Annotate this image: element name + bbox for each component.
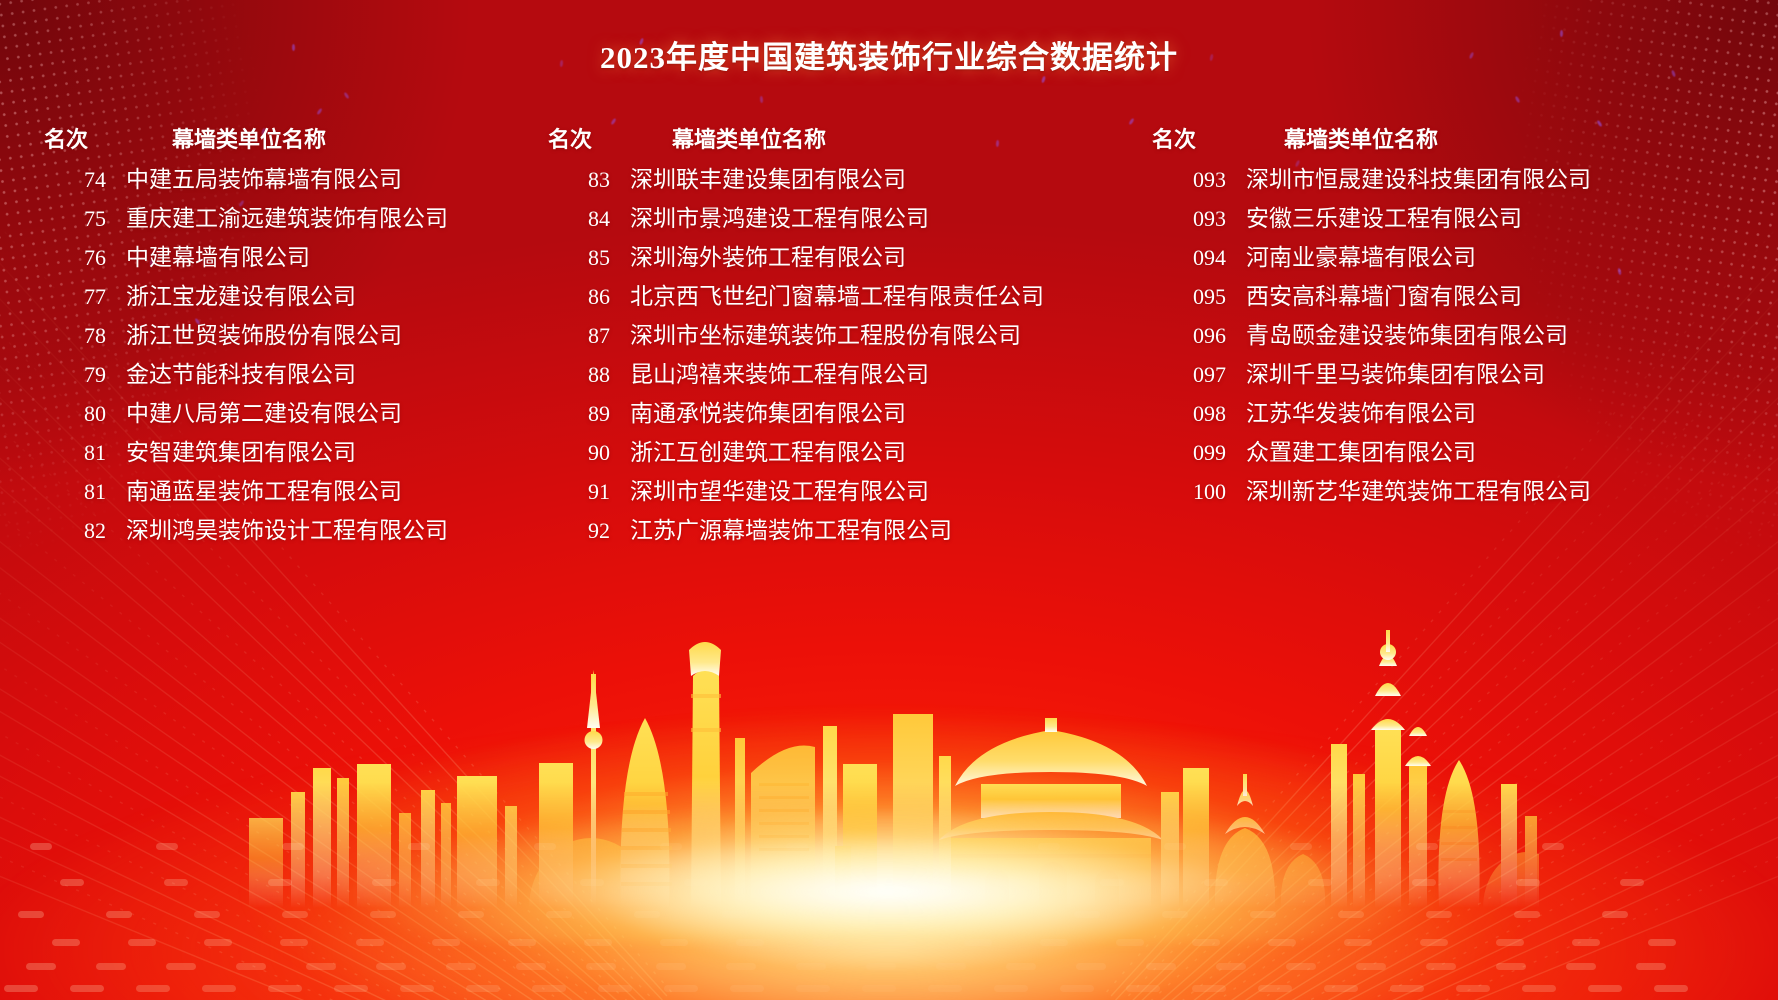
company-name: 青岛颐金建设装饰集团有限公司	[1226, 316, 1568, 350]
rank-value: 097	[1152, 362, 1226, 388]
company-name: 江苏广源幕墙装饰工程有限公司	[610, 511, 952, 545]
table-row: 093深圳市恒晟建设科技集团有限公司	[1152, 160, 1778, 199]
rank-column-2: 名次 幕墙类单位名称 83深圳联丰建设集团有限公司84深圳市景鸿建设工程有限公司…	[530, 122, 1140, 550]
company-name: 西安高科幕墙门窗有限公司	[1226, 277, 1522, 311]
company-name: 南通承悦装饰集团有限公司	[610, 394, 906, 428]
company-name: 深圳新艺华建筑装饰工程有限公司	[1226, 472, 1591, 506]
rank-column-1: 名次 幕墙类单位名称 74中建五局装饰幕墙有限公司75重庆建工渝远建筑装饰有限公…	[0, 122, 530, 550]
company-name: 重庆建工渝远建筑装饰有限公司	[106, 199, 448, 233]
skyline-base-wash	[139, 712, 1639, 942]
company-name: 安徽三乐建设工程有限公司	[1226, 199, 1522, 233]
rank-value: 89	[548, 401, 610, 427]
rank-value: 85	[548, 245, 610, 271]
rank-value: 90	[548, 440, 610, 466]
rank-value: 096	[1152, 323, 1226, 349]
header-name-3: 幕墙类单位名称	[1226, 122, 1438, 154]
table-row: 097深圳千里马装饰集团有限公司	[1152, 355, 1778, 394]
table-row: 76中建幕墙有限公司	[44, 238, 530, 277]
rank-rows-2: 83深圳联丰建设集团有限公司84深圳市景鸿建设工程有限公司85深圳海外装饰工程有…	[548, 160, 1140, 550]
company-name: 浙江互创建筑工程有限公司	[610, 433, 906, 467]
rank-value: 91	[548, 479, 610, 505]
rank-value: 80	[44, 401, 106, 427]
rank-rows-3: 093深圳市恒晟建设科技集团有限公司093安徽三乐建设工程有限公司094河南业豪…	[1152, 160, 1778, 511]
table-row: 84深圳市景鸿建设工程有限公司	[548, 199, 1140, 238]
column-header-1: 名次 幕墙类单位名称	[44, 122, 530, 154]
company-name: 北京西飞世纪门窗幕墙工程有限责任公司	[610, 277, 1044, 311]
rank-value: 79	[44, 362, 106, 388]
company-name: 江苏华发装饰有限公司	[1226, 394, 1476, 428]
header-rank-1: 名次	[44, 122, 104, 154]
ground-glow-core	[0, 540, 1778, 1000]
rank-value: 78	[44, 323, 106, 349]
table-row: 094河南业豪幕墙有限公司	[1152, 238, 1778, 277]
company-name: 浙江世贸装饰股份有限公司	[106, 316, 402, 350]
page-title: 2023年度中国建筑装饰行业综合数据统计	[0, 32, 1778, 77]
header-rank-3: 名次	[1152, 122, 1226, 154]
company-name: 金达节能科技有限公司	[106, 355, 356, 389]
beijing-skyline-icon	[239, 578, 1539, 908]
runway-dash-marks	[0, 810, 1778, 1000]
rank-columns: 名次 幕墙类单位名称 74中建五局装饰幕墙有限公司75重庆建工渝远建筑装饰有限公…	[0, 122, 1778, 550]
table-row: 81安智建筑集团有限公司	[44, 433, 530, 472]
company-name: 深圳鸿昊装饰设计工程有限公司	[106, 511, 448, 545]
rank-value: 74	[44, 167, 106, 193]
column-header-2: 名次 幕墙类单位名称	[548, 122, 1140, 154]
table-row: 87深圳市坐标建筑装饰工程股份有限公司	[548, 316, 1140, 355]
company-name: 深圳市恒晟建设科技集团有限公司	[1226, 160, 1591, 194]
company-name: 浙江宝龙建设有限公司	[106, 277, 356, 311]
rank-value: 87	[548, 323, 610, 349]
table-row: 82深圳鸿昊装饰设计工程有限公司	[44, 511, 530, 550]
rank-value: 100	[1152, 479, 1226, 505]
table-row: 74中建五局装饰幕墙有限公司	[44, 160, 530, 199]
rank-value: 81	[44, 440, 106, 466]
table-row: 095西安高科幕墙门窗有限公司	[1152, 277, 1778, 316]
company-name: 安智建筑集团有限公司	[106, 433, 356, 467]
company-name: 深圳市坐标建筑装饰工程股份有限公司	[610, 316, 1021, 350]
table-row: 89南通承悦装饰集团有限公司	[548, 394, 1140, 433]
rank-value: 099	[1152, 440, 1226, 466]
rank-value: 81	[44, 479, 106, 505]
table-row: 093安徽三乐建设工程有限公司	[1152, 199, 1778, 238]
rank-value: 86	[548, 284, 610, 310]
company-name: 中建八局第二建设有限公司	[106, 394, 402, 428]
company-name: 昆山鸿禧来装饰工程有限公司	[610, 355, 929, 389]
rank-value: 92	[548, 518, 610, 544]
company-name: 河南业豪幕墙有限公司	[1226, 238, 1476, 272]
table-row: 78浙江世贸装饰股份有限公司	[44, 316, 530, 355]
rank-value: 88	[548, 362, 610, 388]
company-name: 中建五局装饰幕墙有限公司	[106, 160, 402, 194]
rank-value: 77	[44, 284, 106, 310]
header-rank-2: 名次	[548, 122, 608, 154]
company-name: 深圳海外装饰工程有限公司	[610, 238, 906, 272]
table-row: 91深圳市望华建设工程有限公司	[548, 472, 1140, 511]
rank-value: 76	[44, 245, 106, 271]
table-row: 099众置建工集团有限公司	[1152, 433, 1778, 472]
table-row: 90浙江互创建筑工程有限公司	[548, 433, 1140, 472]
table-row: 098江苏华发装饰有限公司	[1152, 394, 1778, 433]
poster-canvas: 2023年度中国建筑装饰行业综合数据统计 名次 幕墙类单位名称 74中建五局装饰…	[0, 0, 1778, 1000]
rank-column-3: 名次 幕墙类单位名称 093深圳市恒晟建设科技集团有限公司093安徽三乐建设工程…	[1140, 122, 1778, 550]
table-row: 81南通蓝星装饰工程有限公司	[44, 472, 530, 511]
table-row: 86北京西飞世纪门窗幕墙工程有限责任公司	[548, 277, 1140, 316]
rank-value: 82	[44, 518, 106, 544]
company-name: 深圳千里马装饰集团有限公司	[1226, 355, 1545, 389]
rank-rows-1: 74中建五局装饰幕墙有限公司75重庆建工渝远建筑装饰有限公司76中建幕墙有限公司…	[44, 160, 530, 550]
rank-value: 095	[1152, 284, 1226, 310]
company-name: 中建幕墙有限公司	[106, 238, 310, 272]
rank-value: 093	[1152, 167, 1226, 193]
company-name: 众置建工集团有限公司	[1226, 433, 1476, 467]
rank-value: 75	[44, 206, 106, 232]
header-name-1: 幕墙类单位名称	[104, 122, 326, 154]
table-row: 79金达节能科技有限公司	[44, 355, 530, 394]
rank-value: 83	[548, 167, 610, 193]
rank-value: 093	[1152, 206, 1226, 232]
table-row: 85深圳海外装饰工程有限公司	[548, 238, 1140, 277]
table-row: 100深圳新艺华建筑装饰工程有限公司	[1152, 472, 1778, 511]
header-name-2: 幕墙类单位名称	[608, 122, 826, 154]
table-row: 88昆山鸿禧来装饰工程有限公司	[548, 355, 1140, 394]
column-header-3: 名次 幕墙类单位名称	[1152, 122, 1778, 154]
ground-glow-outer	[0, 570, 1778, 1000]
table-row: 92江苏广源幕墙装饰工程有限公司	[548, 511, 1140, 550]
rank-value: 094	[1152, 245, 1226, 271]
company-name: 深圳市景鸿建设工程有限公司	[610, 199, 929, 233]
company-name: 深圳联丰建设集团有限公司	[610, 160, 906, 194]
company-name: 南通蓝星装饰工程有限公司	[106, 472, 402, 506]
company-name: 深圳市望华建设工程有限公司	[610, 472, 929, 506]
table-row: 77浙江宝龙建设有限公司	[44, 277, 530, 316]
rank-value: 098	[1152, 401, 1226, 427]
rank-value: 84	[548, 206, 610, 232]
table-row: 096青岛颐金建设装饰集团有限公司	[1152, 316, 1778, 355]
table-row: 83深圳联丰建设集团有限公司	[548, 160, 1140, 199]
table-row: 75重庆建工渝远建筑装饰有限公司	[44, 199, 530, 238]
table-row: 80中建八局第二建设有限公司	[44, 394, 530, 433]
